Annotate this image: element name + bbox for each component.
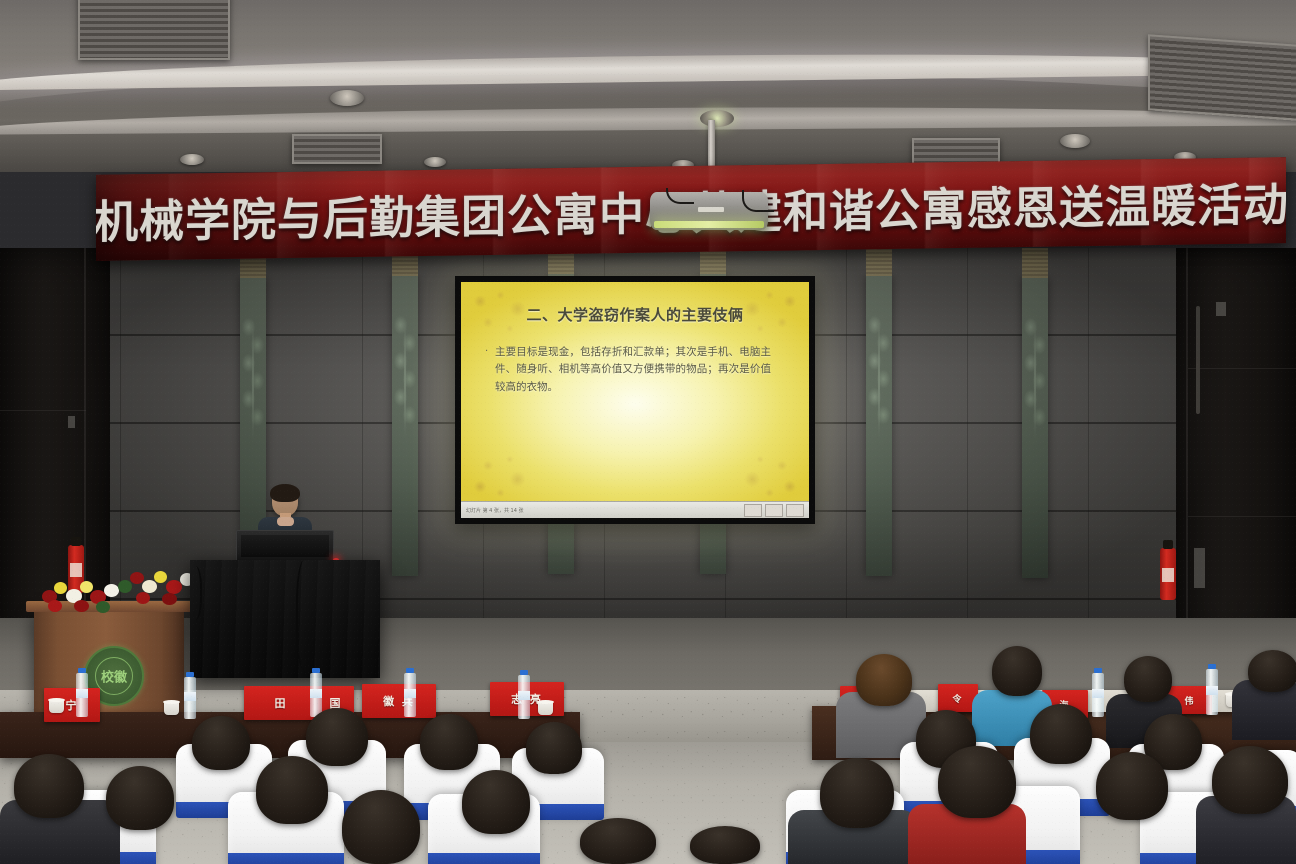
fire-extinguisher-right	[1160, 548, 1176, 600]
audience-member	[420, 714, 478, 770]
audience-member	[192, 716, 250, 770]
placard-text: 伟	[1184, 694, 1195, 707]
placard-text: 令	[952, 692, 963, 705]
ppt-toolbar-button[interactable]	[786, 504, 804, 517]
downlight	[700, 110, 734, 127]
audience-member	[14, 754, 84, 818]
downlight	[330, 90, 364, 106]
audience-member	[106, 766, 174, 830]
floor-cable	[296, 560, 316, 670]
water-bottle	[1206, 664, 1218, 712]
downlight	[180, 154, 204, 165]
audience-member	[938, 746, 1016, 818]
name-placard: 徽 兵	[362, 684, 436, 718]
projection-screen: 二、大学盗窃作案人的主要伎俩 · 主要目标是现金，包括存折和汇款单；其次是手机、…	[455, 276, 815, 524]
hvac-vent	[292, 134, 382, 164]
water-bottle	[184, 672, 196, 716]
audience-member	[1096, 752, 1168, 820]
audience-member	[856, 654, 912, 706]
audience-member	[1212, 746, 1288, 814]
hvac-vent	[78, 0, 230, 60]
water-bottle	[518, 670, 530, 716]
audience-member	[992, 646, 1042, 696]
audience-member	[580, 818, 656, 864]
slide-content: 二、大学盗窃作案人的主要伎俩 · 主要目标是现金，包括存折和汇款单；其次是手机、…	[461, 282, 809, 518]
audience-member	[462, 770, 530, 834]
presenter-table	[190, 560, 380, 678]
floor-cable	[186, 566, 202, 620]
ceiling	[0, 0, 1296, 172]
downlight	[1060, 134, 1090, 148]
water-bottle	[76, 668, 88, 714]
paper-cup	[164, 702, 179, 715]
emblem-glyph: 校徽	[86, 667, 142, 686]
audience-member	[526, 722, 582, 774]
slide-body-text: 主要目标是现金，包括存折和汇款单；其次是手机、电脑主件、随身听、相机等高价值又方…	[495, 344, 771, 396]
water-bottle	[310, 668, 322, 714]
audience-member	[342, 790, 420, 864]
paper-cup	[49, 700, 64, 713]
audience-member	[690, 826, 760, 864]
ppt-toolbar-button[interactable]	[765, 504, 783, 517]
lecture-hall-photo: 二、大学盗窃作案人的主要伎俩 · 主要目标是现金，包括存折和汇款单；其次是手机、…	[0, 0, 1296, 864]
audience-member	[256, 756, 328, 824]
slide-title: 二、大学盗窃作案人的主要伎俩	[461, 304, 809, 325]
water-bottle	[1092, 668, 1104, 714]
projector-cable	[742, 190, 774, 212]
slide-bullet-icon: ·	[485, 346, 488, 357]
name-placard: 田	[244, 686, 318, 720]
audience-member	[820, 758, 894, 828]
powerpoint-status-bar: 幻灯片 第 4 张，共 14 张	[461, 501, 809, 518]
audience-member	[1030, 704, 1092, 764]
hvac-vent	[1148, 34, 1296, 121]
ppt-toolbar-button[interactable]	[744, 504, 762, 517]
paper-cup	[538, 702, 553, 715]
powerpoint-status-text: 幻灯片 第 4 张，共 14 张	[461, 507, 524, 514]
audience-member	[1248, 650, 1296, 692]
audience-member	[1124, 656, 1172, 702]
flower-arrangement-left	[36, 576, 126, 616]
placard-text: 田	[275, 695, 288, 711]
audience-member	[306, 708, 368, 766]
downlight	[424, 157, 446, 167]
water-bottle	[404, 668, 416, 714]
